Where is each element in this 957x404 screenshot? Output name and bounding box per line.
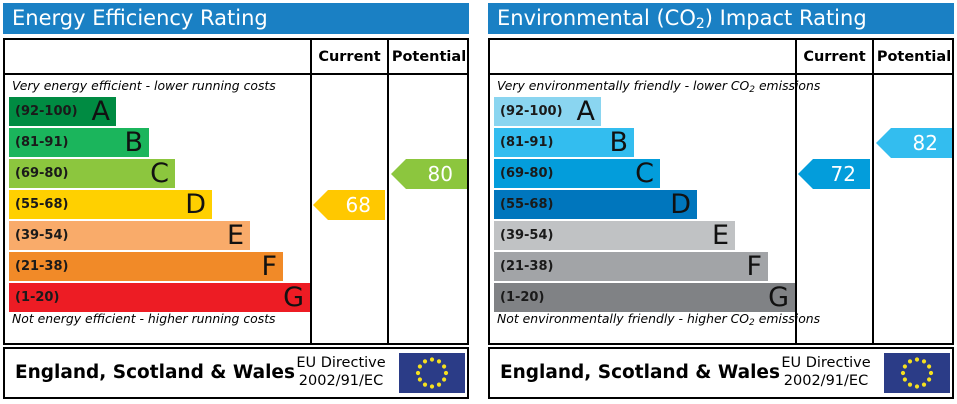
band-row-b: (81-91) B — [494, 128, 634, 157]
band-letter-g: G — [768, 283, 789, 310]
band-range-e: (39-54) — [15, 221, 68, 250]
region-label: England, Scotland & Wales — [500, 349, 780, 397]
band-range-a: (92-100) — [15, 97, 78, 126]
current-rating-arrow: 68 — [313, 190, 385, 220]
eu-flag-icon — [884, 353, 950, 393]
band-letter-a: A — [577, 97, 595, 124]
potential-rating-value: 80 — [428, 162, 453, 186]
column-divider-current — [310, 40, 312, 343]
band-letter-g: G — [283, 283, 304, 310]
caption-bottom-prefix: Not environmentally friendly - higher CO — [497, 311, 749, 326]
band-row-g: (1-20) G — [9, 283, 310, 312]
band-range-g: (1-20) — [500, 283, 544, 312]
column-header-current: Current — [795, 40, 874, 75]
bands-area: Very environmentally friendly - lower CO… — [490, 75, 795, 343]
co2-impact-rating-chart: Environmental (CO2) Impact Rating Curren… — [485, 0, 957, 404]
eu-directive-line2: 2002/91/EC — [772, 372, 880, 390]
column-divider-potential — [872, 40, 874, 343]
eu-directive-label: EU Directive 2002/91/EC — [287, 354, 395, 390]
band-range-a: (92-100) — [500, 97, 563, 126]
caption-top-subscript: 2 — [749, 85, 755, 95]
band-letter-c: C — [150, 159, 169, 186]
column-header-potential: Potential — [874, 40, 954, 75]
band-letter-b: B — [124, 128, 143, 155]
rating-table-frame: Current Potential Very environmentally f… — [488, 38, 954, 345]
chart-title-suffix: ) Impact Rating — [705, 6, 867, 30]
eu-directive-line2: 2002/91/EC — [287, 372, 395, 390]
bands-area: Very energy efficient - lower running co… — [5, 75, 310, 343]
current-rating-value: 68 — [346, 193, 371, 217]
band-row-d: (55-68) D — [9, 190, 212, 219]
band-range-d: (55-68) — [15, 190, 68, 219]
band-letter-b: B — [609, 128, 628, 155]
band-letter-f: F — [261, 252, 277, 279]
band-range-c: (69-80) — [500, 159, 553, 188]
band-range-d: (55-68) — [500, 190, 553, 219]
potential-rating-arrow: 82 — [876, 128, 952, 158]
band-range-b: (81-91) — [15, 128, 68, 157]
chart-title-subscript: 2 — [696, 16, 705, 32]
band-row-g: (1-20) G — [494, 283, 795, 312]
eu-flag-icon — [399, 353, 465, 393]
column-header-potential: Potential — [389, 40, 469, 75]
caption-top: Very energy efficient - lower running co… — [12, 78, 276, 93]
band-letter-d: D — [670, 190, 691, 217]
band-row-c: (69-80) C — [494, 159, 660, 188]
band-letter-c: C — [635, 159, 654, 186]
caption-top: Very environmentally friendly - lower CO… — [497, 78, 820, 93]
band-range-e: (39-54) — [500, 221, 553, 250]
band-letter-a: A — [92, 97, 110, 124]
chart-footer: England, Scotland & Wales EU Directive 2… — [3, 347, 469, 399]
band-row-a: (92-100) A — [9, 97, 116, 126]
caption-top-suffix: emissions — [755, 78, 820, 93]
band-row-a: (92-100) A — [494, 97, 601, 126]
chart-title-banner: Energy Efficiency Rating — [3, 3, 469, 34]
band-range-b: (81-91) — [500, 128, 553, 157]
band-row-f: (21-38) F — [494, 252, 768, 281]
region-label: England, Scotland & Wales — [15, 349, 295, 397]
epc-charts-page: Energy Efficiency Rating Current Potenti… — [0, 0, 957, 404]
eu-directive-label: EU Directive 2002/91/EC — [772, 354, 880, 390]
eu-directive-line1: EU Directive — [772, 354, 880, 372]
band-row-f: (21-38) F — [9, 252, 283, 281]
caption-bottom: Not energy efficient - higher running co… — [12, 311, 276, 326]
band-letter-e: E — [227, 221, 244, 248]
column-header-current: Current — [310, 40, 389, 75]
potential-rating-arrow: 80 — [391, 159, 467, 189]
chart-title-prefix: Environmental (CO — [497, 6, 696, 30]
current-rating-arrow: 72 — [798, 159, 870, 189]
band-range-f: (21-38) — [500, 252, 553, 281]
chart-title-banner: Environmental (CO2) Impact Rating — [488, 3, 954, 34]
band-range-c: (69-80) — [15, 159, 68, 188]
band-range-f: (21-38) — [15, 252, 68, 281]
band-row-c: (69-80) C — [9, 159, 175, 188]
rating-table-frame: Current Potential Very energy efficient … — [3, 38, 469, 345]
potential-rating-value: 82 — [913, 131, 938, 155]
caption-bottom: Not environmentally friendly - higher CO… — [497, 311, 820, 326]
caption-bottom-suffix: emissions — [755, 311, 820, 326]
chart-title: Energy Efficiency Rating — [12, 6, 268, 30]
band-row-b: (81-91) B — [9, 128, 149, 157]
caption-top-prefix: Very environmentally friendly - lower CO — [497, 78, 749, 93]
band-row-d: (55-68) D — [494, 190, 697, 219]
band-letter-e: E — [712, 221, 729, 248]
band-range-g: (1-20) — [15, 283, 59, 312]
energy-efficiency-rating-chart: Energy Efficiency Rating Current Potenti… — [0, 0, 472, 404]
band-letter-f: F — [746, 252, 762, 279]
caption-bottom-subscript: 2 — [749, 318, 755, 328]
column-divider-potential — [387, 40, 389, 343]
current-rating-value: 72 — [831, 162, 856, 186]
band-row-e: (39-54) E — [9, 221, 250, 250]
band-letter-d: D — [185, 190, 206, 217]
band-row-e: (39-54) E — [494, 221, 735, 250]
eu-directive-line1: EU Directive — [287, 354, 395, 372]
chart-footer: England, Scotland & Wales EU Directive 2… — [488, 347, 954, 399]
